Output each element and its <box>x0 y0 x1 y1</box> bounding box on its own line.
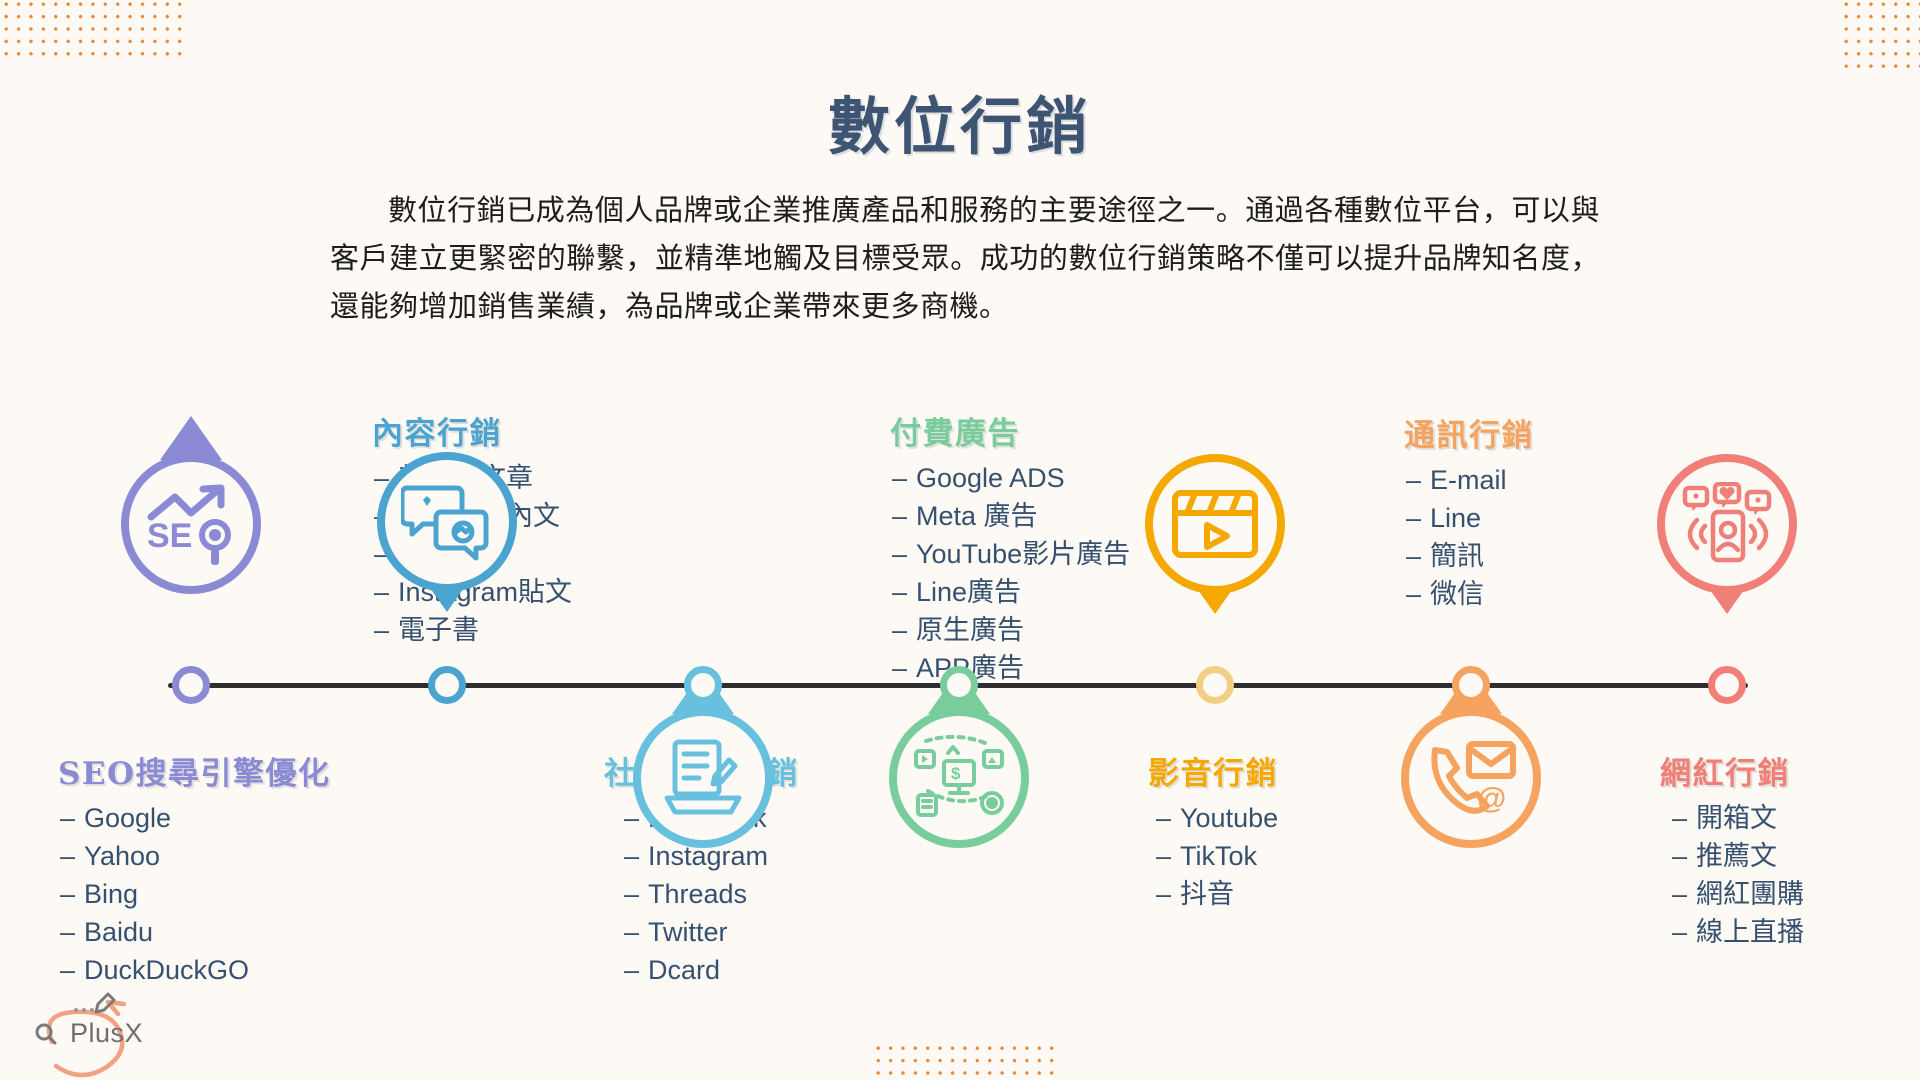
laptop-pen-icon <box>657 736 749 820</box>
page-title: 數位行銷 <box>0 76 1920 166</box>
list-item: TikTok <box>1154 837 1278 875</box>
list-item: Twitter <box>622 913 799 951</box>
list-item: Threads <box>622 875 799 913</box>
section-list-messaging-marketing: E-mail Line 簡訊 微信 <box>1404 461 1534 613</box>
timeline-node-messaging-marketing[interactable] <box>1452 666 1490 704</box>
dot-pattern-bottom <box>870 1040 1062 1080</box>
timeline-node-seo[interactable] <box>172 666 210 704</box>
section-influencer-marketing: 網紅行銷 開箱文 推薦文 網紅團購 線上直播 <box>1660 748 1804 951</box>
section-heading-paid-advertising: 付費廣告 <box>890 408 1130 453</box>
list-item: 線上直播 <box>1670 913 1804 951</box>
pin-content-marketing[interactable] <box>377 452 517 592</box>
phone-email-icon: @ <box>1425 738 1517 818</box>
influencer-phone-icon <box>1681 482 1773 566</box>
section-video-marketing: 影音行銷 Youtube TikTok 抖音 <box>1148 748 1278 913</box>
pin-messaging-marketing[interactable]: @ <box>1401 708 1541 848</box>
video-play-icon <box>1169 485 1261 563</box>
list-item: Line廣告 <box>890 573 1130 611</box>
section-list-video-marketing: Youtube TikTok 抖音 <box>1148 799 1278 913</box>
plusx-logo[interactable]: PlusX <box>22 990 172 1080</box>
list-item: DuckDuckGO <box>58 951 331 989</box>
list-item: 抖音 <box>1154 875 1278 913</box>
section-paid-advertising: 付費廣告 Google ADS Meta 廣告 YouTube影片廣告 Line… <box>890 408 1130 687</box>
dot-pattern-top-left <box>0 0 188 62</box>
pin-bubble <box>1145 454 1285 594</box>
section-list-paid-advertising: Google ADS Meta 廣告 YouTube影片廣告 Line廣告 原生… <box>890 459 1130 687</box>
pin-video-marketing[interactable] <box>1145 454 1285 594</box>
pin-influencer-marketing[interactable] <box>1657 454 1797 594</box>
section-list-seo: Google Yahoo Bing Baidu DuckDuckGO <box>58 799 331 989</box>
chat-bubbles-icon <box>401 480 493 564</box>
section-heading-messaging-marketing: 通訊行銷 <box>1404 410 1534 455</box>
pin-social-media-marketing[interactable] <box>633 708 773 848</box>
pin-seo[interactable]: SE <box>121 454 261 594</box>
list-item: Dcard <box>622 951 799 989</box>
plusx-logo-text: PlusX <box>70 1018 143 1049</box>
list-item: Youtube <box>1154 799 1278 837</box>
list-item: 原生廣告 <box>890 611 1130 649</box>
pin-bubble <box>1657 454 1797 594</box>
intro-paragraph: 數位行銷已成為個人品牌或企業推廣產品和服務的主要途徑之一。通過各種數位平台，可以… <box>330 186 1600 330</box>
list-item: YouTube影片廣告 <box>890 535 1130 573</box>
section-seo: SEO搜尋引擎優化 Google Yahoo Bing Baidu DuckDu… <box>58 748 331 989</box>
svg-text:@: @ <box>1477 782 1506 815</box>
svg-text:$: $ <box>951 764 961 783</box>
list-item: Line <box>1404 499 1534 537</box>
timeline-node-social-media[interactable] <box>684 666 722 704</box>
section-heading-video-marketing: 影音行銷 <box>1148 748 1278 793</box>
dot-pattern-top-right <box>1838 0 1920 74</box>
section-list-influencer-marketing: 開箱文 推薦文 網紅團購 線上直播 <box>1660 799 1804 951</box>
pin-bubble: @ <box>1401 708 1541 848</box>
list-item: Meta 廣告 <box>890 497 1130 535</box>
list-item: E-mail <box>1404 461 1534 499</box>
timeline-node-influencer-marketing[interactable] <box>1708 666 1746 704</box>
list-item: 簡訊 <box>1404 537 1534 575</box>
list-item: 開箱文 <box>1670 799 1804 837</box>
list-item: Baidu <box>58 913 331 951</box>
ad-network-icon: $ <box>912 735 1006 821</box>
section-heading-content-marketing: 內容行銷 <box>372 408 572 453</box>
svg-text:SE: SE <box>147 517 192 555</box>
list-item: Bing <box>58 875 331 913</box>
list-item: 電子書 <box>372 611 572 649</box>
timeline-node-paid-advertising[interactable] <box>940 666 978 704</box>
list-item: 網紅團購 <box>1670 875 1804 913</box>
list-item: APP廣告 <box>890 649 1130 687</box>
pin-bubble <box>633 708 773 848</box>
pin-bubble <box>377 452 517 592</box>
section-heading-influencer-marketing: 網紅行銷 <box>1660 748 1804 793</box>
list-item: Google ADS <box>890 459 1130 497</box>
pin-bubble: SE <box>121 454 261 594</box>
timeline-node-video-marketing[interactable] <box>1196 666 1234 704</box>
section-heading-seo: SEO搜尋引擎優化 <box>58 748 331 793</box>
list-item: 推薦文 <box>1670 837 1804 875</box>
list-item: 微信 <box>1404 575 1534 613</box>
seo-growth-icon: SE <box>143 481 239 567</box>
list-item: Yahoo <box>58 837 331 875</box>
list-item: Google <box>58 799 331 837</box>
pin-bubble: $ <box>889 708 1029 848</box>
timeline-node-content-marketing[interactable] <box>428 666 466 704</box>
section-messaging-marketing: 通訊行銷 E-mail Line 簡訊 微信 <box>1404 410 1534 613</box>
pin-paid-advertising[interactable]: $ <box>889 708 1029 848</box>
